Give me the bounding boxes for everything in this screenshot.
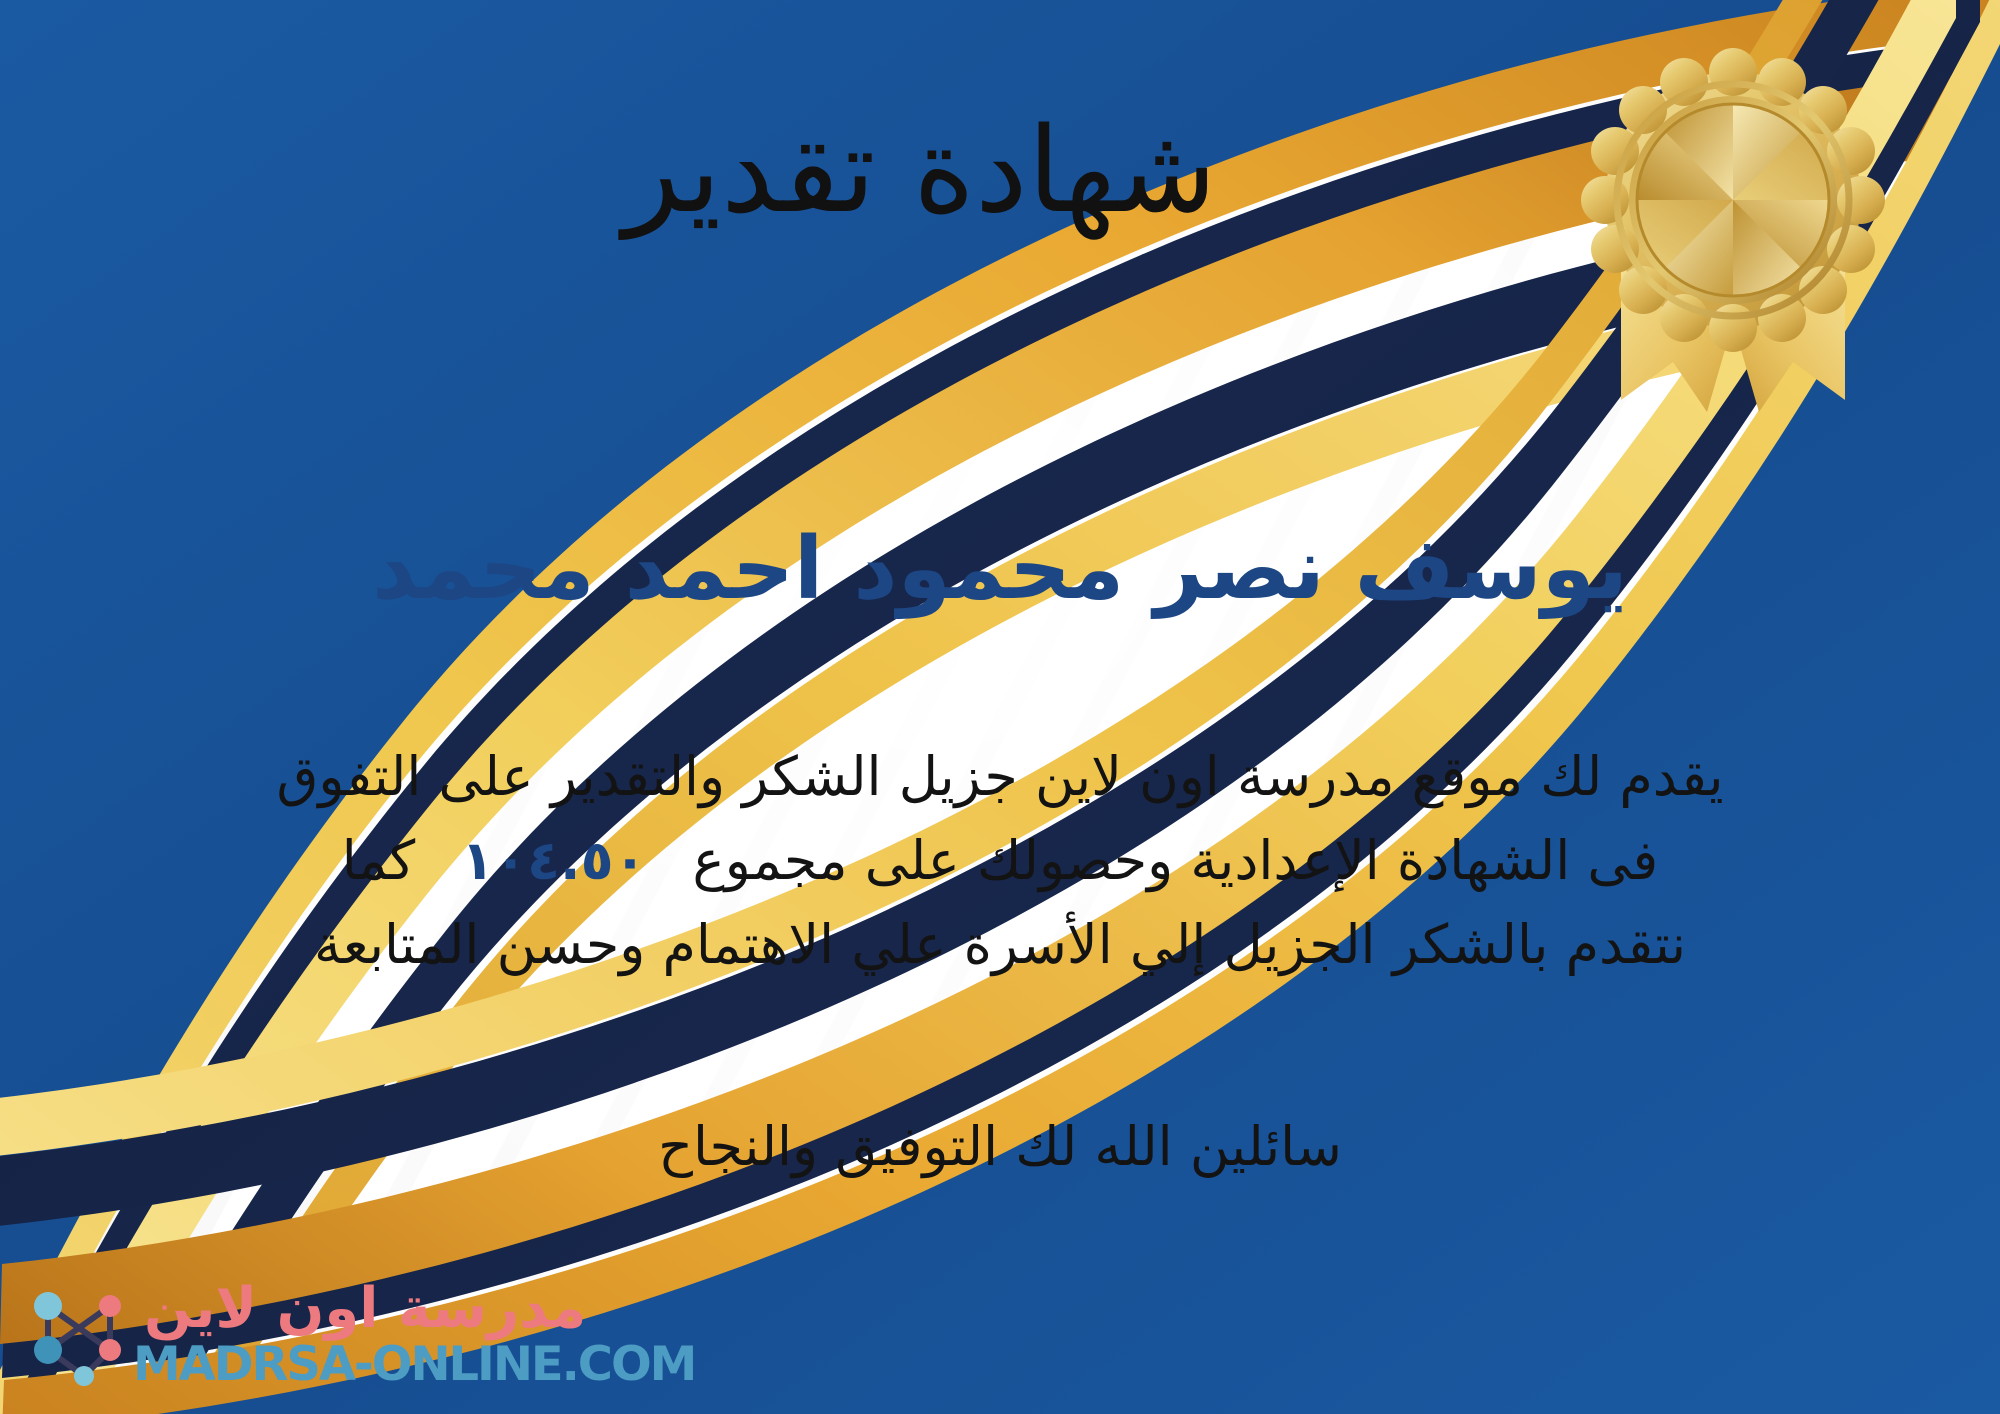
logo-website-url: MADRSA-ONLINE.COM <box>133 1340 695 1389</box>
total-score-value: ١٠٤.٥٠ <box>415 829 692 892</box>
citation-body: يقدم لك موقع مدرسة اون لاين جزيل الشكر و… <box>46 735 1954 988</box>
recipient-name: يوسف نصر محمود احمد محمد <box>0 520 2000 620</box>
citation-line-1: يقدم لك موقع مدرسة اون لاين جزيل الشكر و… <box>46 735 1954 819</box>
logo-wordmark: مدرسة اون لاين MADRSA-ONLINE.COM <box>144 1279 695 1389</box>
citation-line-2-prefix: فى الشهادة الإعدادية وحصولك على مجموع <box>692 829 1658 892</box>
closing-line: سائلين الله لك التوفيق والنجاح <box>0 1115 2000 1178</box>
citation-line-3: نتقدم بالشكر الجزيل إلي الأسرة علي الاهت… <box>46 903 1954 987</box>
site-logo[interactable]: مدرسة اون لاين MADRSA-ONLINE.COM <box>22 1276 695 1392</box>
citation-line-2-suffix: كما <box>342 829 415 892</box>
network-nodes-icon <box>22 1276 134 1392</box>
citation-line-2: فى الشهادة الإعدادية وحصولك على مجموع١٠٤… <box>46 819 1954 903</box>
logo-arabic-name: مدرسة اون لاين <box>144 1279 586 1339</box>
certificate-canvas: شهادة تقدير يوسف نصر محمود احمد محمد يقد… <box>0 0 2000 1414</box>
page-title: شهادة تقدير <box>0 104 2000 236</box>
